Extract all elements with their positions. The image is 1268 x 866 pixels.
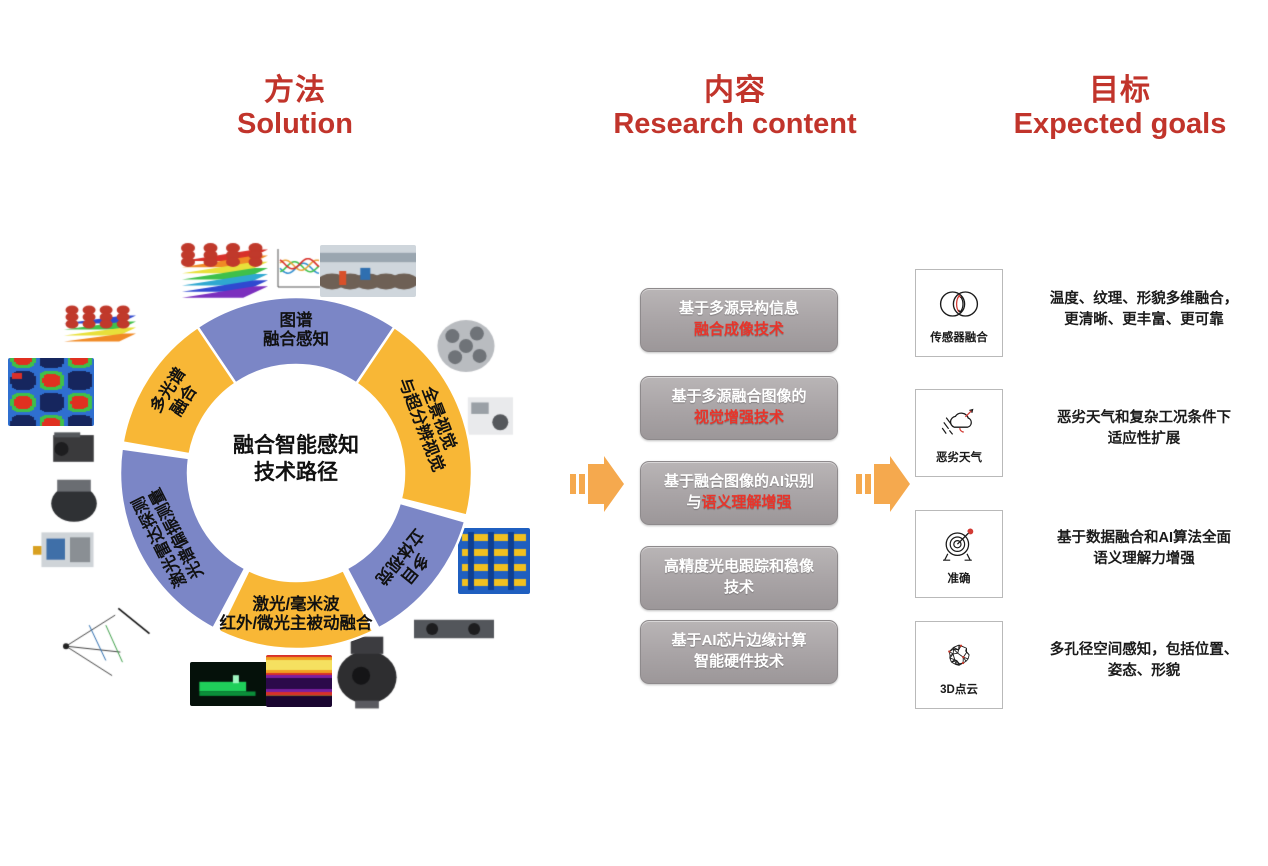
diagram-canvas: 方法 Solution 内容 Research content 目标 Expec… (0, 0, 1268, 866)
header-goals-en: Expected goals (975, 108, 1265, 140)
goal-card-3-caption: 3D点云 (940, 681, 978, 697)
process-box-2-line2: 与语义理解增强 (664, 493, 814, 514)
dome-camera-thumb (44, 470, 104, 524)
goal-card-accuracy[interactable]: 准确 (915, 510, 1003, 598)
process-box-0-highlight: 融合成像技术 (679, 320, 799, 341)
column-header-solution: 方法 Solution (150, 74, 440, 140)
process-box-ai-chip-edge-computing[interactable]: 基于AI芯片边缘计算 智能硬件技术 (640, 620, 838, 684)
thermal-map-equipment-thumb (8, 358, 94, 426)
process-box-3-line2: 技术 (664, 578, 814, 599)
goal-text-accuracy: 基于数据融合和AI算法全面 语义理解力增强 (1022, 528, 1266, 569)
process-box-1-highlight: 视觉增强技术 (671, 408, 806, 429)
pipeline-inspection-photo-thumb (320, 245, 416, 297)
header-content-en: Research content (585, 108, 885, 140)
point-cloud-sphere-icon (935, 634, 983, 678)
wheel-center-title: 融合智能感知 技术路径 (176, 432, 416, 487)
goal-card-point-cloud[interactable]: 3D点云 (915, 621, 1003, 709)
header-solution-cn: 方法 (150, 74, 440, 108)
goal-card-0-caption: 传感器融合 (930, 329, 988, 345)
process-box-visual-enhancement-tech[interactable]: 基于多源融合图像的 视觉增强技术 (640, 376, 838, 440)
goal-card-1-caption: 恶劣天气 (936, 449, 982, 465)
process-box-fusion-imaging-tech[interactable]: 基于多源异构信息 融合成像技术 (640, 288, 838, 352)
header-content-cn: 内容 (585, 74, 885, 108)
goal-text-sensor-fusion: 温度、纹理、形貌多维融合， 更清晰、更丰富、更可靠 (1022, 289, 1266, 330)
process-box-4-line2: 智能硬件技术 (671, 652, 806, 673)
thermal-portrait-thumb (266, 655, 332, 707)
target-dartboard-icon (935, 523, 983, 567)
process-box-4-line1: 基于AI芯片边缘计算 (671, 631, 806, 652)
arrow-solution-to-content (566, 456, 628, 512)
rain-cloud-icon (935, 402, 983, 446)
arrow-content-to-goals (852, 456, 914, 512)
process-box-3-line1: 高精度光电跟踪和稳像 (664, 557, 814, 578)
goal-card-sensor-fusion[interactable]: 传感器融合 (915, 269, 1003, 357)
header-goals-cn: 目标 (975, 74, 1265, 108)
goal-card-2-caption: 准确 (948, 570, 971, 586)
night-vision-scene-thumb (190, 662, 268, 706)
industrial-camera-thumb (48, 425, 100, 471)
process-box-2-line1: 基于融合图像的AI识别 (664, 472, 814, 493)
process-box-2-highlight: 语义理解增强 (701, 494, 791, 511)
process-box-1-line1: 基于多源融合图像的 (671, 387, 806, 408)
process-box-ai-recognition-semantic[interactable]: 基于融合图像的AI识别 与语义理解增强 (640, 461, 838, 525)
overlapping-circles-icon (935, 282, 983, 326)
column-header-goals: 目标 Expected goals (975, 74, 1265, 140)
fusion-technology-wheel: 图谱 融合感知 全景视觉 与超分辨视觉 多目 立体视觉 激光/毫米波 红外/微光… (115, 292, 477, 654)
goal-card-bad-weather[interactable]: 恶劣天气 (915, 389, 1003, 477)
spectrum-curve-plot-thumb (268, 243, 324, 299)
wheel-label-spectral-fusion-sensing: 图谱 融合感知 (263, 312, 329, 351)
goal-text-point-cloud: 多孔径空间感知，包括位置、 姿态、形貌 (1022, 640, 1266, 681)
process-box-optical-tracking-stabilization[interactable]: 高精度光电跟踪和稳像 技术 (640, 546, 838, 610)
column-header-content: 内容 Research content (585, 74, 885, 140)
process-box-2-prefix: 与 (686, 494, 701, 511)
goal-text-bad-weather: 恶劣天气和复杂工况条件下 适应性扩展 (1022, 408, 1266, 449)
process-box-0-line1: 基于多源异构信息 (679, 299, 799, 320)
wheel-label-laser-mmwave-ir-fusion: 激光/毫米波 红外/微光主被动融合 (219, 596, 372, 635)
header-solution-en: Solution (150, 108, 440, 140)
lidar-block-thumb (28, 520, 112, 582)
